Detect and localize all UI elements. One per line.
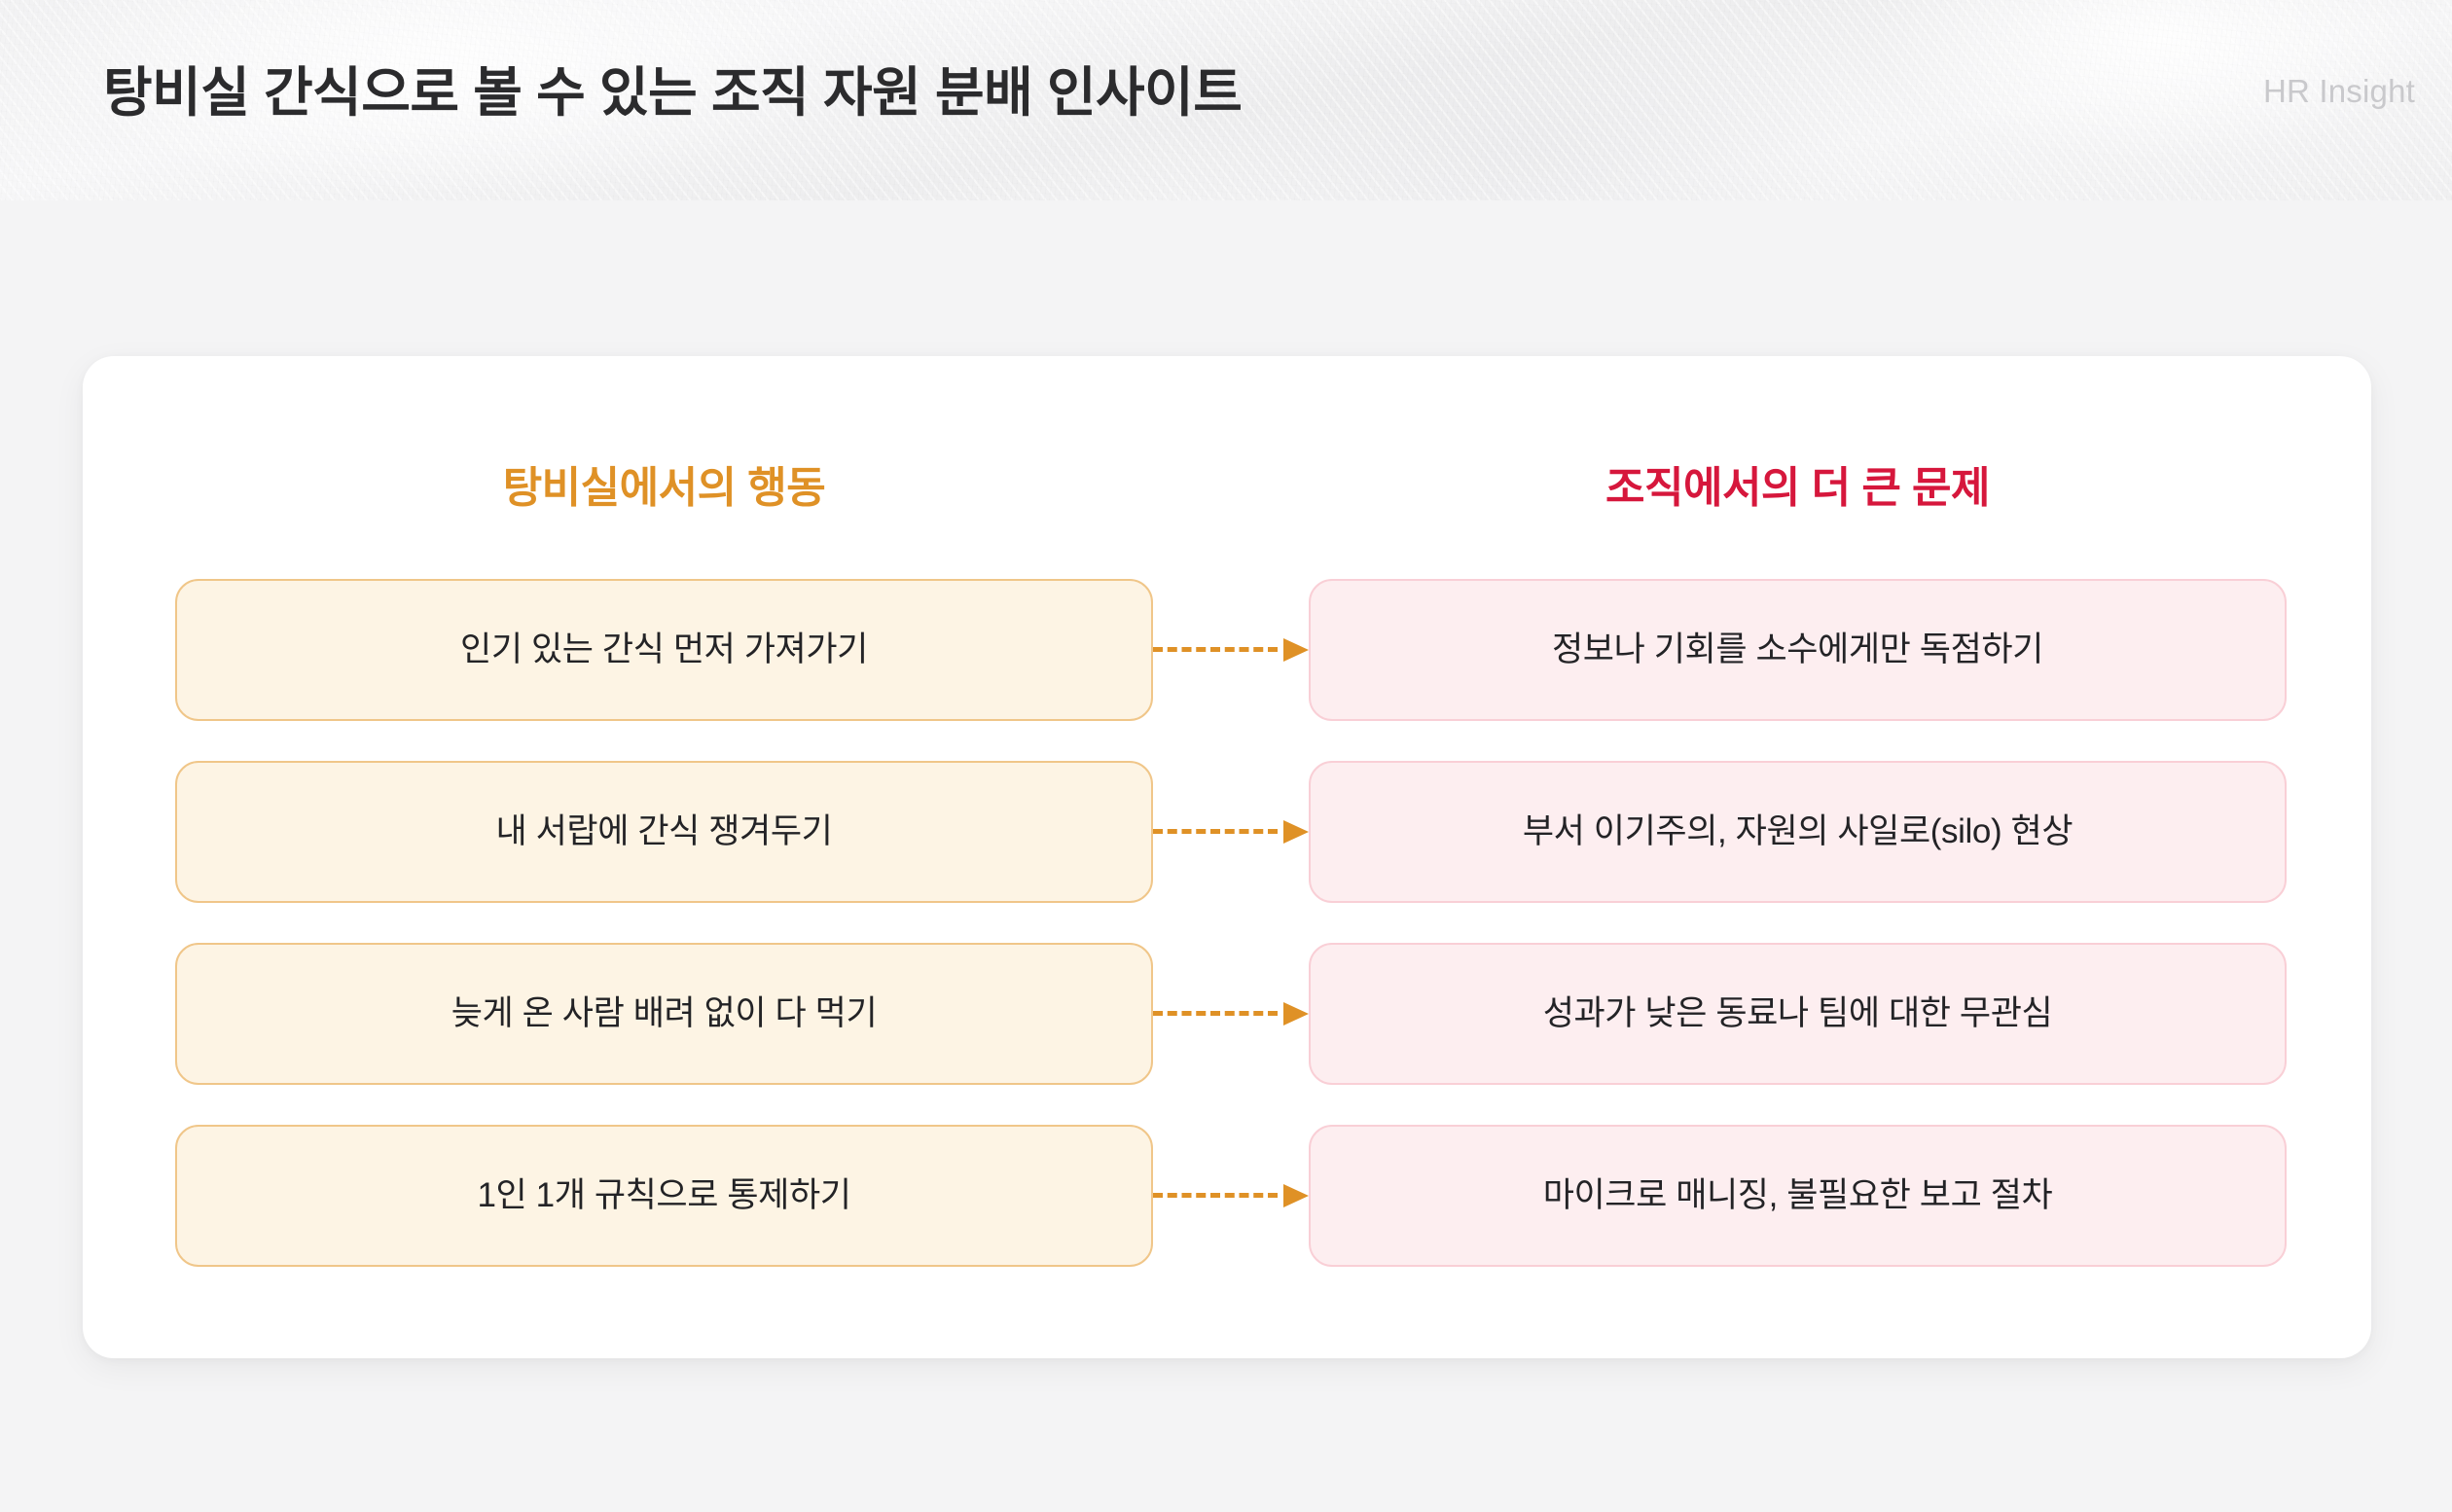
dashed-arrow-right-icon: [1153, 822, 1309, 842]
problem-card-label: 정보나 기회를 소수에게만 독점하기: [1552, 630, 2043, 670]
column-heading-problem: 조직에서의 더 큰 문제: [1309, 452, 2287, 515]
problem-card[interactable]: 부서 이기주의, 자원의 사일로(silo) 현상: [1309, 761, 2287, 903]
mapping-row: 내 서랍에 간식 쟁겨두기 부서 이기주의, 자원의 사일로(silo) 현상: [0, 761, 2452, 903]
brand-label: HR Insight: [2263, 73, 2415, 110]
problem-card[interactable]: 정보나 기회를 소수에게만 독점하기: [1309, 579, 2287, 721]
dashed-arrow-right-icon: [1153, 640, 1309, 660]
behavior-card-label: 인기 있는 간식 먼저 가져가기: [460, 630, 868, 670]
problem-card-label: 부서 이기주의, 자원의 사일로(silo) 현상: [1523, 811, 2073, 852]
column-heading-behavior: 탕비실에서의 행동: [175, 452, 1153, 515]
behavior-card[interactable]: 인기 있는 간식 먼저 가져가기: [175, 579, 1153, 721]
problem-card-label: 마이크로 매니징, 불필요한 보고 절차: [1543, 1175, 2053, 1216]
dashed-arrow-right-icon: [1153, 1004, 1309, 1024]
behavior-card[interactable]: 1인 1개 규칙으로 통제하기: [175, 1125, 1153, 1267]
behavior-card[interactable]: 늦게 온 사람 배려 없이 다 먹기: [175, 943, 1153, 1085]
connector-arrowhead: [1283, 638, 1309, 662]
behavior-card-label: 늦게 온 사람 배려 없이 다 먹기: [451, 993, 878, 1034]
mapping-row: 인기 있는 간식 먼저 가져가기 정보나 기회를 소수에게만 독점하기: [0, 579, 2452, 721]
header-band: 탕비실 간식으로 볼 수 있는 조직 자원 분배 인사이트 HR Insight: [0, 0, 2452, 200]
dashed-arrow-right-icon: [1153, 1186, 1309, 1206]
problem-card[interactable]: 마이크로 매니징, 불필요한 보고 절차: [1309, 1125, 2287, 1267]
connector-line: [1153, 1011, 1278, 1016]
problem-card[interactable]: 성과가 낮은 동료나 팀에 대한 무관심: [1309, 943, 2287, 1085]
mapping-row: 1인 1개 규칙으로 통제하기 마이크로 매니징, 불필요한 보고 절차: [0, 1125, 2452, 1267]
page-title: 탕비실 간식으로 볼 수 있는 조직 자원 분배 인사이트: [103, 49, 1242, 126]
mapping-row: 늦게 온 사람 배려 없이 다 먹기 성과가 낮은 동료나 팀에 대한 무관심: [0, 943, 2452, 1085]
connector-line: [1153, 1193, 1278, 1198]
behavior-card-label: 내 서랍에 간식 쟁겨두기: [496, 811, 833, 852]
behavior-card[interactable]: 내 서랍에 간식 쟁겨두기: [175, 761, 1153, 903]
connector-line: [1153, 647, 1278, 652]
connector-arrowhead: [1283, 820, 1309, 844]
slide-root: 탕비실 간식으로 볼 수 있는 조직 자원 분배 인사이트 HR Insight…: [0, 0, 2452, 1512]
behavior-card-label: 1인 1개 규칙으로 통제하기: [477, 1175, 850, 1216]
connector-line: [1153, 829, 1278, 834]
connector-arrowhead: [1283, 1002, 1309, 1026]
problem-card-label: 성과가 낮은 동료나 팀에 대한 무관심: [1543, 993, 2053, 1034]
connector-arrowhead: [1283, 1184, 1309, 1207]
